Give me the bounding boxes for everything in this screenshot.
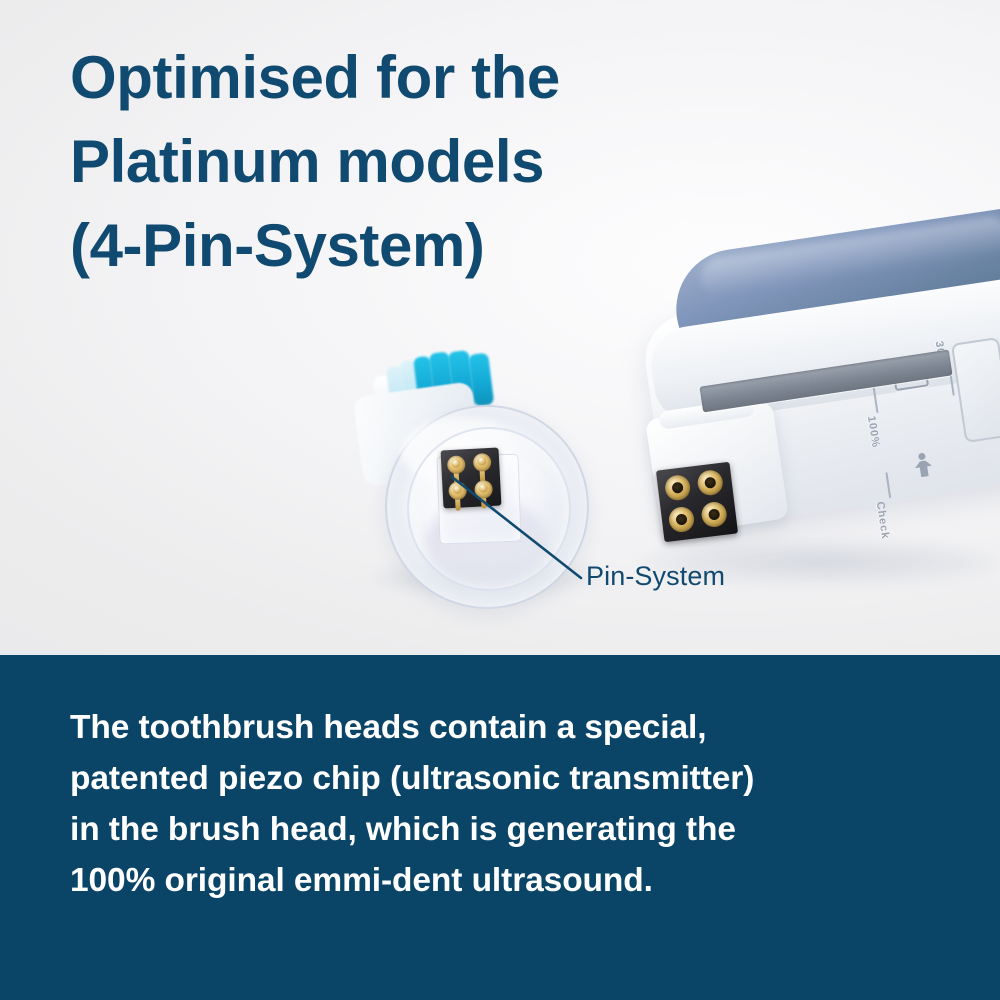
page-title: Optimised for the Platinum models (4-Pin… <box>70 36 730 288</box>
gold-pin <box>447 455 466 474</box>
product-poster: Optimised for the Platinum models (4-Pin… <box>0 0 1000 1000</box>
product-photo-area: Optimised for the Platinum models (4-Pin… <box>0 0 1000 655</box>
gold-socket <box>668 506 696 534</box>
gold-pin <box>473 453 492 472</box>
description-band: The toothbrush heads contain a special, … <box>0 655 1000 1000</box>
marking-100-percent: 100% <box>865 415 882 449</box>
person-icon <box>911 452 935 481</box>
gold-socket <box>696 469 724 497</box>
brush-head-image <box>330 345 630 595</box>
gold-pin <box>474 480 493 499</box>
brush-head-pin-chip <box>441 448 502 509</box>
gold-socket <box>664 474 692 502</box>
handle-pin-socket-plate <box>656 462 738 542</box>
description-text: The toothbrush heads contain a special, … <box>70 702 950 906</box>
gold-socket <box>700 501 728 529</box>
callout-label-pin-system: Pin-System <box>586 561 725 592</box>
gold-pin <box>448 481 467 500</box>
marking-check: Check <box>874 501 891 540</box>
